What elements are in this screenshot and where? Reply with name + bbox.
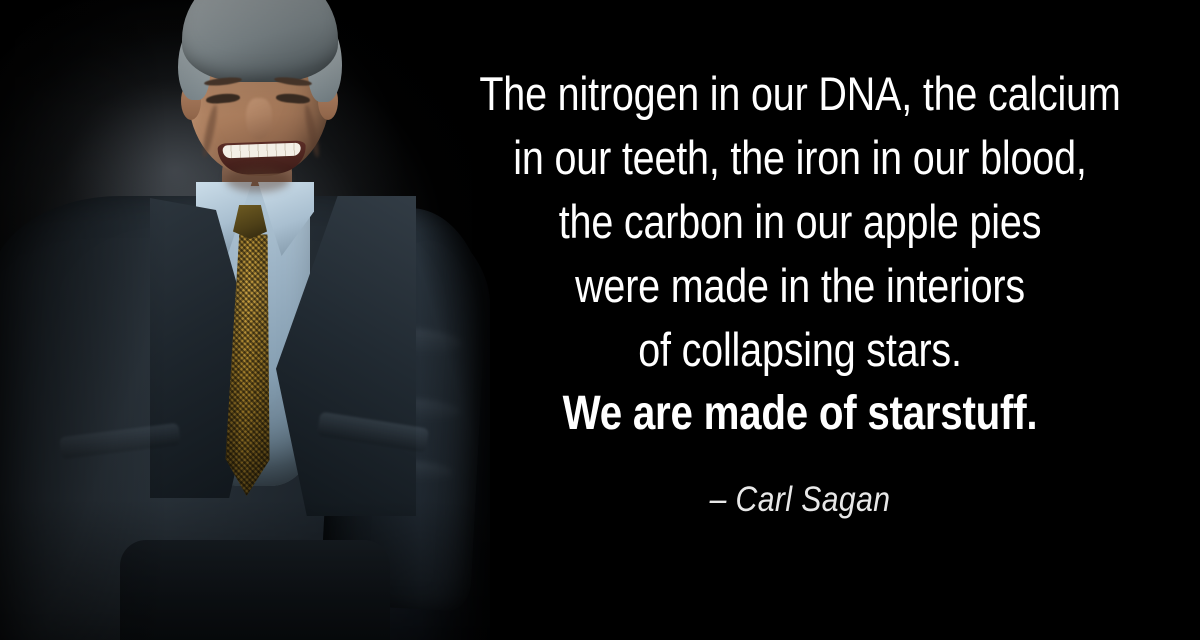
quote-line-emphasis: We are made of starstuff. [464,382,1136,446]
hair [182,0,338,82]
quote-block: The nitrogen in our DNA, the calcium in … [400,62,1200,520]
quote-card: The nitrogen in our DNA, the calcium in … [0,0,1200,640]
quote-attribution: – Carl Sagan [456,480,1144,520]
trousers [120,540,390,640]
quote-line-4: were made in the interiors [464,254,1136,318]
teeth [223,143,301,159]
nose [246,98,272,140]
quote-line-1: The nitrogen in our DNA, the calcium [464,62,1136,126]
quote-line-2: in our teeth, the iron in our blood, [464,126,1136,190]
quote-line-5: of collapsing stars. [464,318,1136,382]
quote-line-3: the carbon in our apple pies [464,190,1136,254]
chin-shadow [226,168,290,192]
